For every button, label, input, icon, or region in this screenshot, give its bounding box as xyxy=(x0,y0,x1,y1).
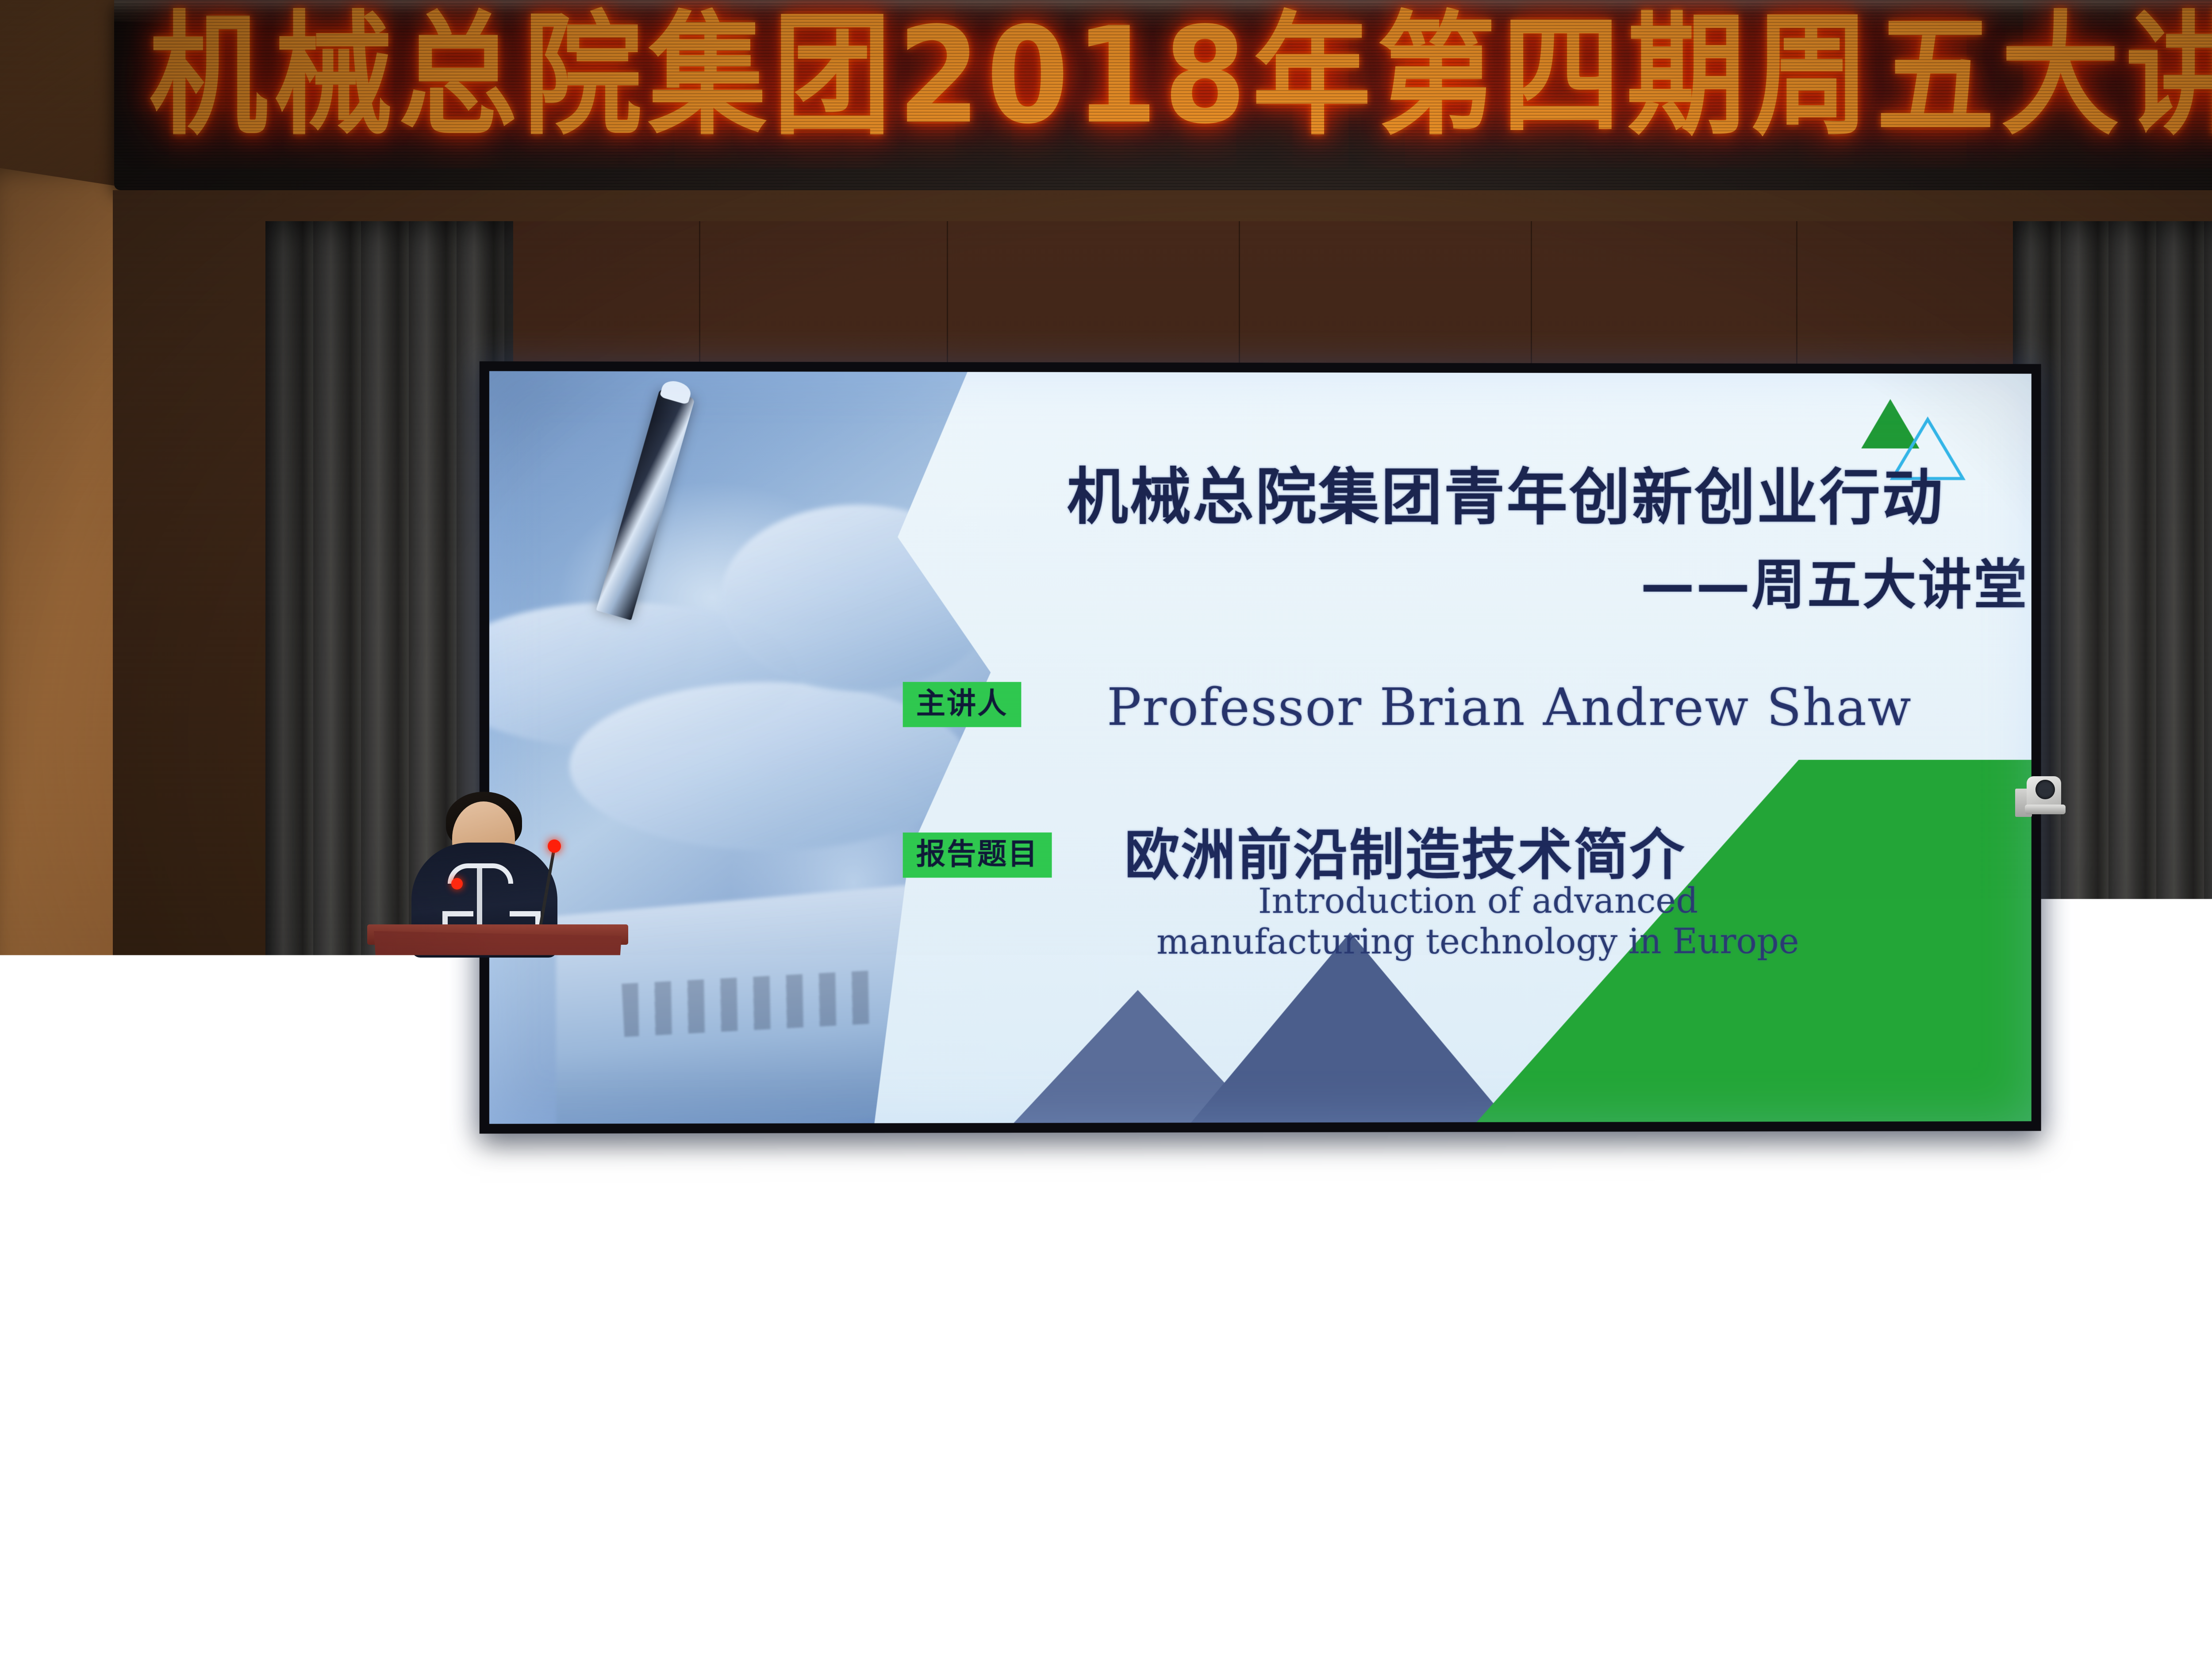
lecture-hall-scene: 机械总院集团2018年第四期周五大讲堂 xyxy=(0,0,2212,1671)
keyring xyxy=(1336,1490,1389,1506)
audience-person-hair xyxy=(2075,1451,2190,1537)
audience-person xyxy=(1944,1159,2090,1431)
lapel-indicator-light xyxy=(451,878,463,889)
audience-person xyxy=(2130,1115,2212,1387)
audience-person xyxy=(856,1070,1029,1392)
audience-person-hair xyxy=(1337,1139,1423,1204)
audience-person-hair xyxy=(0,1217,123,1491)
audience-person-hair xyxy=(345,1414,452,1495)
audience-person-hair xyxy=(1111,1067,1190,1126)
microphone-indicator-light xyxy=(548,839,561,853)
audience-person-hair xyxy=(1972,1165,2063,1234)
led-banner: 机械总院集团2018年第四期周五大讲堂 xyxy=(114,0,2212,190)
slide-topic-tag: 报告题目 xyxy=(903,832,1052,878)
audience-person-hair xyxy=(574,1174,665,1242)
led-scanline-overlay xyxy=(114,0,2212,190)
audience-person xyxy=(773,1460,979,1671)
slide-speaker-name: Professor Brian Andrew Shaw xyxy=(1107,678,1912,737)
pen-icon xyxy=(596,389,695,621)
audience-person-hair xyxy=(1806,1104,1892,1169)
slide-title: 机械总院集团青年创新创业行动 xyxy=(1067,465,2029,530)
audience-person xyxy=(1092,1194,1244,1479)
audience-person xyxy=(546,1168,692,1440)
slide-topic-chinese: 欧洲前沿制造技术简介 xyxy=(1125,810,1686,890)
audience-person-hair xyxy=(746,1138,829,1200)
audience-person-hair xyxy=(1115,1196,1221,1293)
audience-person xyxy=(1455,1150,1588,1398)
audience-person xyxy=(312,1407,484,1671)
slide-speaker-tag: 主讲人 xyxy=(903,682,1022,727)
audience-person-hair xyxy=(218,1201,313,1272)
audience-area xyxy=(0,919,2212,1671)
audience-person-hair xyxy=(1475,1154,1569,1264)
audience-person-hair xyxy=(390,1165,476,1230)
audience-person xyxy=(0,1212,143,1546)
audience-person xyxy=(1311,1132,1450,1392)
audience-person-hair xyxy=(2158,1121,2212,1189)
audience-person xyxy=(1629,1292,1822,1651)
audience-person-hair xyxy=(812,1469,940,1565)
audience-person xyxy=(2039,1442,2212,1671)
ptz-camera-icon xyxy=(2015,772,2067,820)
audience-person xyxy=(364,1159,503,1419)
audience-person-hair xyxy=(889,1078,996,1159)
slide-subtitle: ——周五大讲堂 xyxy=(1067,540,2029,619)
audience-person xyxy=(721,1132,854,1380)
audience-person-hair xyxy=(1666,1300,1785,1390)
